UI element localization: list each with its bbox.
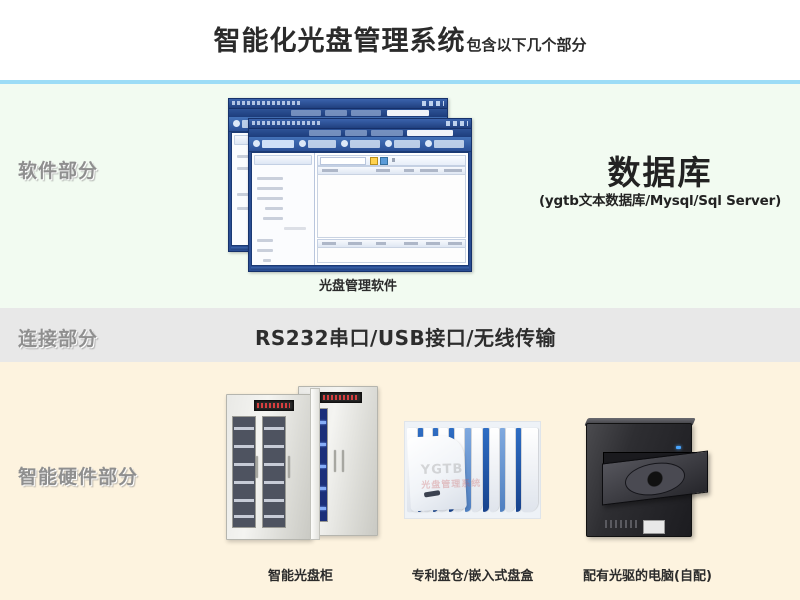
cabinet-handle — [288, 456, 290, 478]
hardware-caption-cabinet: 智能光盘柜 — [218, 565, 383, 584]
cartridge-watermark: YGTB 光盘管理系统 — [421, 461, 482, 491]
hardware-caption-pc: 配有光驱的电脑(自配) — [560, 565, 735, 584]
cabinet-led-display — [254, 400, 294, 411]
hardware-image-cartridges: YGTB 光盘管理系统 — [405, 422, 540, 518]
header: 智能化光盘管理系统 包含以下几个部分 — [0, 0, 800, 82]
tab-item[interactable] — [325, 110, 347, 116]
cabinet-glass-door-right — [262, 416, 286, 528]
tab-item[interactable] — [371, 130, 403, 136]
search-divider-icon — [392, 158, 395, 162]
tab-item[interactable] — [345, 130, 367, 136]
cartridge — [516, 428, 521, 512]
pc-disc-platter — [625, 459, 685, 498]
cartridge — [490, 428, 499, 512]
toolbar-icon-search[interactable] — [425, 140, 432, 147]
window-body — [251, 152, 469, 266]
toolbar-icon-settings[interactable] — [385, 140, 392, 147]
window-tabstrip — [249, 129, 471, 137]
cartridge-notch — [424, 490, 441, 497]
database-title: 数据库 — [520, 156, 800, 191]
window-title-text — [232, 101, 302, 105]
pc-badge — [643, 520, 665, 534]
toolbar-icon-disc-in[interactable] — [253, 140, 260, 147]
database-subtitle: (ygtb文本数据库/Mysql/Sql Server) — [520, 193, 800, 209]
field-label — [257, 177, 283, 180]
window-controls[interactable] — [446, 121, 468, 126]
toolbar-button-settings[interactable] — [394, 140, 420, 148]
database-block: 数据库 (ygtb文本数据库/Mysql/Sql Server) — [520, 156, 800, 209]
window-statusbar — [251, 267, 469, 270]
window-right-panel — [315, 153, 468, 265]
search-input[interactable] — [320, 157, 366, 165]
window-toolbar — [249, 137, 471, 152]
cabinet-left — [226, 394, 310, 538]
connection-text: RS232串口/USB接口/无线传输 — [255, 322, 556, 351]
row-label-connection: 连接部分 — [18, 324, 98, 351]
search-go-icon[interactable] — [380, 157, 388, 165]
pc-power-led-icon — [676, 446, 681, 449]
hardware-caption-cartridges: 专利盘仓/嵌入式盘盒 — [390, 565, 555, 584]
pc-vents — [605, 520, 639, 528]
cabinet-glass-door-left — [232, 416, 256, 528]
field-label — [257, 197, 283, 200]
toolbar-button-disc-query[interactable] — [350, 140, 380, 148]
tab-item[interactable] — [309, 130, 341, 136]
panel-tabs[interactable] — [254, 155, 312, 165]
window-left-panel — [252, 153, 315, 265]
cabinet-handle — [334, 450, 336, 472]
field-label-required — [257, 249, 273, 252]
toolbar-button-disc-in[interactable] — [262, 140, 294, 148]
field-label — [263, 259, 271, 262]
tab-item[interactable] — [291, 110, 321, 116]
software-screenshot-caption: 光盘管理软件 — [228, 275, 488, 294]
window-controls — [422, 101, 444, 106]
panel-hint — [284, 227, 306, 230]
poster-root: 智能化光盘管理系统 包含以下几个部分 软件部分 — [0, 0, 800, 600]
toolbar-icon-disc-out[interactable] — [299, 140, 306, 147]
cartridge — [500, 428, 505, 512]
toolbar-icon-disc-query[interactable] — [341, 140, 348, 147]
search-toolbar — [317, 155, 466, 166]
field-label — [263, 217, 283, 220]
cartridge — [522, 428, 538, 512]
search-filter-icon[interactable] — [370, 157, 378, 165]
tab-item-selected[interactable] — [387, 110, 429, 116]
row-label-software: 软件部分 — [18, 156, 98, 183]
tab-item-selected[interactable] — [407, 130, 453, 136]
app-window-front[interactable] — [248, 118, 472, 272]
grid-body-top[interactable] — [317, 174, 466, 238]
cartridge — [483, 428, 489, 512]
cabinet-handle — [256, 456, 258, 478]
field-label — [257, 187, 283, 190]
tab-item[interactable] — [351, 110, 381, 116]
window-title-text — [252, 121, 322, 125]
toolbar-icon[interactable] — [233, 120, 240, 127]
field-label-required — [257, 239, 273, 242]
cabinet-side-panel — [310, 388, 320, 540]
cabinet-handle — [342, 450, 344, 472]
title-main: 智能化光盘管理系统 — [213, 28, 465, 55]
title-subtitle: 包含以下几个部分 — [466, 38, 586, 53]
cabinet-led-display — [320, 392, 362, 403]
page-title: 智能化光盘管理系统 包含以下几个部分 — [0, 0, 800, 82]
window-tabstrip — [229, 109, 447, 117]
hardware-image-pc — [578, 415, 713, 541]
window-titlebar — [229, 99, 447, 109]
row-label-hardware: 智能硬件部分 — [18, 462, 138, 489]
toolbar-button-search[interactable] — [434, 140, 464, 148]
field-label — [265, 207, 283, 210]
window-titlebar — [249, 119, 471, 129]
cartridge — [506, 428, 515, 512]
grid-body-bottom[interactable] — [317, 247, 466, 263]
software-screenshots — [228, 98, 488, 270]
toolbar-button-disc-out[interactable] — [308, 140, 336, 148]
hardware-image-cabinet — [218, 380, 383, 545]
